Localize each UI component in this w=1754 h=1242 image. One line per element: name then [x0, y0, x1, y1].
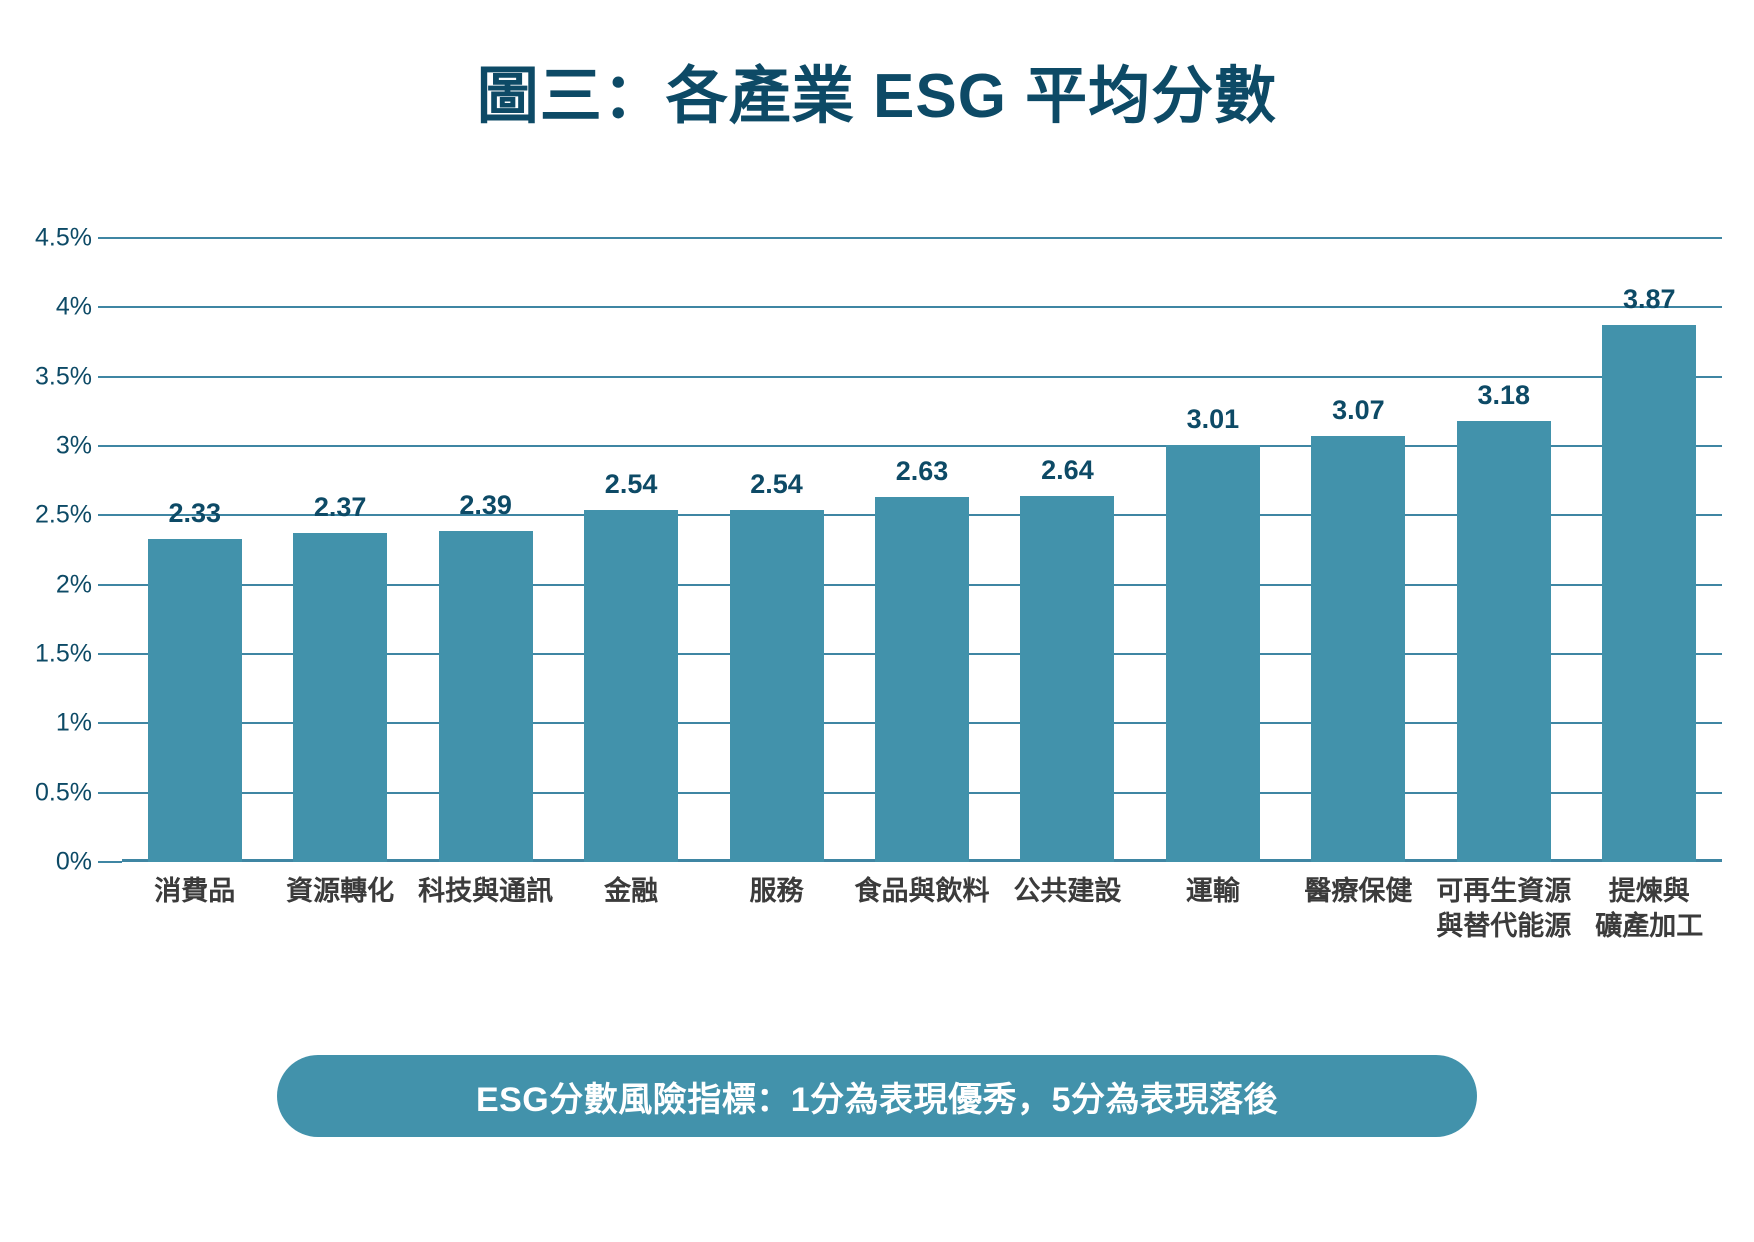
- bar-value-label: 2.63: [896, 456, 949, 487]
- bar[interactable]: [1311, 436, 1405, 862]
- y-axis-tick-mark: [98, 237, 122, 239]
- bar-group: 3.01: [1140, 238, 1285, 862]
- footer-note-banner: ESG分數風險指標：1分為表現優秀，5分為表現落後: [277, 1055, 1477, 1137]
- x-axis-labels: 消費品資源轉化科技與通訊金融服務食品與飲料公共建設運輸醫療保健可再生資源 與替代…: [122, 874, 1722, 986]
- plot-area: 4.5%4%3.5%3%2.5%2%1.5%1%0.5%0% 2.332.372…: [0, 238, 1754, 898]
- bar[interactable]: [148, 539, 242, 862]
- bar-group: 2.33: [122, 238, 267, 862]
- bar[interactable]: [1457, 421, 1551, 862]
- bar[interactable]: [1020, 496, 1114, 862]
- page-title: 圖三：各產業 ESG 平均分數: [0, 62, 1754, 131]
- bar-value-label: 2.37: [314, 492, 367, 523]
- bar-group: 2.63: [849, 238, 994, 862]
- y-axis-tick-label: 4.5%: [35, 224, 92, 253]
- bar-value-label: 3.18: [1478, 380, 1531, 411]
- x-axis-category-label: 可再生資源 與替代能源: [1431, 874, 1576, 944]
- bar-value-label: 3.01: [1187, 404, 1240, 435]
- bar-group: 2.39: [413, 238, 558, 862]
- bar-value-label: 2.64: [1041, 455, 1094, 486]
- y-axis-tick-label: 1%: [56, 709, 92, 738]
- x-axis-category-label: 醫療保健: [1286, 874, 1431, 909]
- x-axis-category-label: 金融: [558, 874, 703, 909]
- y-axis-tick-mark: [98, 445, 122, 447]
- y-axis-tick-label: 3%: [56, 432, 92, 461]
- bar[interactable]: [1602, 325, 1696, 862]
- y-axis-tick-mark: [98, 584, 122, 586]
- bar[interactable]: [293, 533, 387, 862]
- y-axis-tick-label: 4%: [56, 293, 92, 322]
- y-axis-tick-label: 2%: [56, 570, 92, 599]
- y-axis-tick-mark: [98, 792, 122, 794]
- x-axis-category-label: 科技與通訊: [413, 874, 558, 909]
- y-axis-tick-mark: [98, 722, 122, 724]
- bar-group: 3.87: [1577, 238, 1722, 862]
- bar-group: 2.54: [704, 238, 849, 862]
- bar-value-label: 2.54: [605, 469, 658, 500]
- x-axis-category-label: 資源轉化: [267, 874, 412, 909]
- bar[interactable]: [439, 531, 533, 862]
- bar-group: 3.18: [1431, 238, 1576, 862]
- y-axis-tick-label: 0%: [56, 848, 92, 877]
- x-axis-category-label: 服務: [704, 874, 849, 909]
- bar-group: 3.07: [1286, 238, 1431, 862]
- bar[interactable]: [584, 510, 678, 862]
- bar-value-label: 3.07: [1332, 395, 1385, 426]
- bar-group: 2.64: [995, 238, 1140, 862]
- x-axis-category-label: 消費品: [122, 874, 267, 909]
- bar-value-label: 2.33: [168, 498, 221, 529]
- bar-value-label: 2.39: [459, 490, 512, 521]
- y-axis-tick-mark: [98, 306, 122, 308]
- y-axis-tick-mark: [98, 653, 122, 655]
- footer-note-text: ESG分數風險指標：1分為表現優秀，5分為表現落後: [476, 1072, 1278, 1121]
- y-axis-tick-label: 3.5%: [35, 362, 92, 391]
- x-axis-category-label: 運輸: [1140, 874, 1285, 909]
- bar-value-label: 3.87: [1623, 284, 1676, 315]
- bar-group: 2.54: [558, 238, 703, 862]
- y-axis-tick-label: 2.5%: [35, 501, 92, 530]
- x-axis-category-label: 公共建設: [995, 874, 1140, 909]
- y-axis-labels: 4.5%4%3.5%3%2.5%2%1.5%1%0.5%0%: [0, 238, 92, 862]
- y-axis-tick-mark: [98, 861, 122, 863]
- bar[interactable]: [875, 497, 969, 862]
- x-axis-category-label: 食品與飲料: [849, 874, 994, 909]
- chart-page: 圖三：各產業 ESG 平均分數 4.5%4%3.5%3%2.5%2%1.5%1%…: [0, 0, 1754, 1242]
- y-axis-tick-mark: [98, 376, 122, 378]
- bar[interactable]: [1166, 445, 1260, 862]
- bar-group: 2.37: [267, 238, 412, 862]
- bar[interactable]: [730, 510, 824, 862]
- bar-series: 2.332.372.392.542.542.632.643.013.073.18…: [122, 238, 1722, 862]
- bar-value-label: 2.54: [750, 469, 803, 500]
- y-axis-tick-mark: [98, 514, 122, 516]
- y-axis-tick-label: 0.5%: [35, 778, 92, 807]
- y-axis-tick-label: 1.5%: [35, 640, 92, 669]
- x-axis-category-label: 提煉與 礦產加工: [1577, 874, 1722, 944]
